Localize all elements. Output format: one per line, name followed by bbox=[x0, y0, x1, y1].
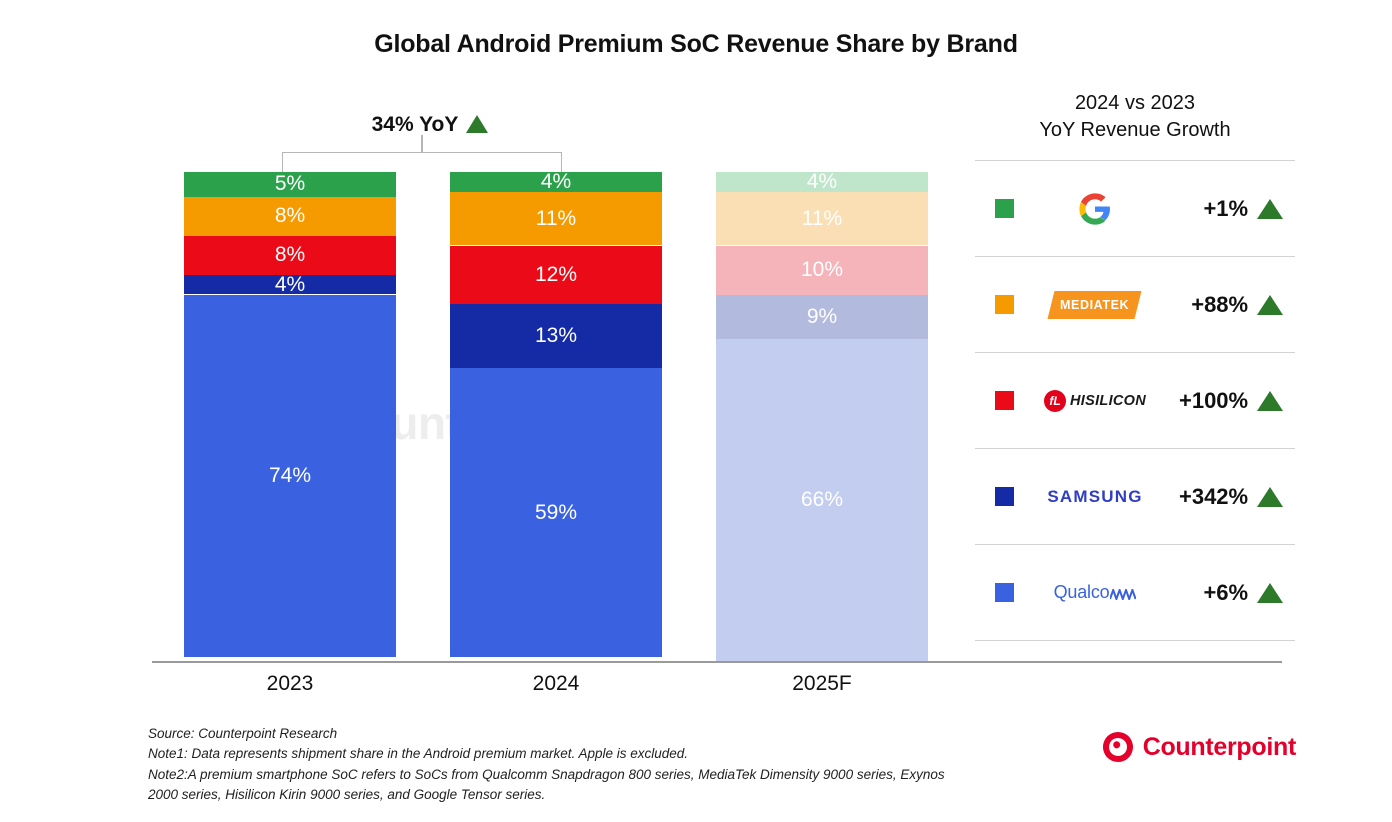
bar-segment-value: 11% bbox=[802, 207, 842, 231]
legend-row-samsung: SAMSUNG+342% bbox=[975, 449, 1295, 545]
x-axis-label-0: 2023 bbox=[184, 672, 396, 696]
yoy-annotation-label: 34% YoY bbox=[372, 113, 459, 136]
chart-plot-area: 34% YoY Counterpoint 5%8%8%4%74% 4%11%12… bbox=[0, 0, 960, 822]
bar-segment-value: 4% bbox=[275, 273, 305, 297]
bar-segment-qualcomm-2024: 59% bbox=[450, 368, 662, 657]
up-triangle-icon bbox=[1257, 487, 1283, 507]
bar-segment-hisilicon-2025f: 10% bbox=[716, 246, 928, 295]
bar-segment-value: 11% bbox=[536, 207, 576, 231]
legend-title: 2024 vs 2023 YoY Revenue Growth bbox=[975, 90, 1295, 144]
up-triangle-icon bbox=[466, 115, 488, 133]
bar-segment-samsung-2024: 13% bbox=[450, 304, 662, 368]
qualcomm-logo-icon: Qualco bbox=[1054, 582, 1137, 603]
bar-segment-value: 66% bbox=[801, 488, 843, 512]
bar-segment-mediatek-2024: 11% bbox=[450, 192, 662, 246]
legend-arrow-cell bbox=[1248, 487, 1291, 507]
bar-segment-mediatek-2023: 8% bbox=[184, 197, 396, 236]
up-triangle-icon bbox=[1257, 583, 1283, 603]
google-logo-icon bbox=[1078, 192, 1112, 226]
legend-swatch-cell bbox=[979, 583, 1030, 602]
qualcomm-logo-text: Qualco bbox=[1054, 582, 1110, 603]
legend-arrow-cell bbox=[1248, 583, 1291, 603]
counterpoint-logo-icon bbox=[1098, 728, 1136, 766]
legend-row-mediatek: MEDIATEK+88% bbox=[975, 257, 1295, 353]
counterpoint-brand-name: Counterpoint bbox=[1143, 733, 1296, 762]
legend-logo-cell: Qualco bbox=[1030, 582, 1161, 603]
bar-segment-value: 10% bbox=[801, 258, 843, 282]
legend-logo-cell: SAMSUNG bbox=[1030, 487, 1161, 507]
mediatek-logo-text: MEDIATEK bbox=[1060, 298, 1129, 312]
bar-segment-value: 5% bbox=[275, 172, 305, 196]
bar-segment-hisilicon-2023: 8% bbox=[184, 236, 396, 275]
legend-color-swatch bbox=[995, 295, 1014, 314]
mediatek-logo-icon: MEDIATEK bbox=[1048, 291, 1142, 319]
bar-segment-google-2023: 5% bbox=[184, 172, 396, 197]
hisilicon-logo-text: HISILICON bbox=[1070, 393, 1146, 409]
note-1: Note1: Data represents shipment share in… bbox=[148, 744, 948, 764]
bar-segment-qualcomm-2023: 74% bbox=[184, 295, 396, 658]
bar-column-2025f: 4%11%10%9%66% bbox=[716, 172, 928, 662]
legend-row-qualcomm: Qualco+6% bbox=[975, 545, 1295, 641]
bar-segment-value: 12% bbox=[535, 263, 577, 287]
yoy-annotation: 34% YoY bbox=[280, 113, 580, 137]
legend-growth-value: +6% bbox=[1160, 580, 1248, 606]
hisilicon-mark-icon: fL bbox=[1044, 390, 1066, 412]
legend-logo-cell: fLHISILICON bbox=[1030, 390, 1161, 412]
hisilicon-logo-icon: fLHISILICON bbox=[1044, 390, 1146, 412]
legend-row-google: +1% bbox=[975, 161, 1295, 257]
source-note: Source: Counterpoint Research bbox=[148, 724, 948, 744]
bar-segment-value: 8% bbox=[275, 204, 305, 228]
bar-segment-value: 4% bbox=[807, 170, 837, 194]
legend-growth-value: +342% bbox=[1160, 484, 1248, 510]
bar-segment-samsung-2025f: 9% bbox=[716, 295, 928, 339]
legend-growth-value: +100% bbox=[1160, 388, 1248, 414]
yoy-bracket bbox=[282, 152, 562, 174]
up-triangle-icon bbox=[1257, 199, 1283, 219]
legend-panel: 2024 vs 2023 YoY Revenue Growth +1%MEDIA… bbox=[975, 90, 1295, 641]
bar-segment-value: 4% bbox=[541, 170, 571, 194]
legend-color-swatch bbox=[995, 583, 1014, 602]
bar-segment-value: 9% bbox=[807, 305, 837, 329]
legend-arrow-cell bbox=[1248, 391, 1291, 411]
bar-segment-value: 13% bbox=[535, 324, 577, 348]
legend-growth-value: +1% bbox=[1160, 196, 1248, 222]
legend-growth-value: +88% bbox=[1160, 292, 1248, 318]
up-triangle-icon bbox=[1257, 391, 1283, 411]
bar-segment-google-2025f: 4% bbox=[716, 172, 928, 192]
note-2: Note2:A premium smartphone SoC refers to… bbox=[148, 765, 948, 806]
counterpoint-brand-logo: Counterpoint bbox=[1103, 732, 1296, 762]
legend-arrow-cell bbox=[1248, 295, 1291, 315]
x-axis-label-1: 2024 bbox=[450, 672, 662, 696]
legend-title-line1: 2024 vs 2023 bbox=[975, 90, 1295, 117]
bar-segment-value: 59% bbox=[535, 501, 577, 525]
legend-arrow-cell bbox=[1248, 199, 1291, 219]
legend-color-swatch bbox=[995, 199, 1014, 218]
legend-swatch-cell bbox=[979, 295, 1030, 314]
legend-color-swatch bbox=[995, 487, 1014, 506]
up-triangle-icon bbox=[1257, 295, 1283, 315]
legend-swatch-cell bbox=[979, 391, 1030, 410]
legend-row-hisilicon: fLHISILICON+100% bbox=[975, 353, 1295, 449]
bar-segment-value: 74% bbox=[269, 464, 311, 488]
legend-title-line2: YoY Revenue Growth bbox=[975, 117, 1295, 144]
stacked-bars: 5%8%8%4%74% 4%11%12%13%59% 4%11%10%9%66% bbox=[0, 172, 960, 662]
legend-logo-cell bbox=[1030, 192, 1161, 226]
bar-column-2023: 5%8%8%4%74% bbox=[184, 172, 396, 662]
legend-logo-cell: MEDIATEK bbox=[1030, 291, 1161, 319]
legend-color-swatch bbox=[995, 391, 1014, 410]
legend-rows: +1%MEDIATEK+88%fLHISILICON+100%SAMSUNG+3… bbox=[975, 160, 1295, 641]
x-axis-label-2: 2025F bbox=[716, 672, 928, 696]
bar-segment-mediatek-2025f: 11% bbox=[716, 192, 928, 246]
legend-swatch-cell bbox=[979, 487, 1030, 506]
bar-segment-hisilicon-2024: 12% bbox=[450, 246, 662, 305]
bar-segment-value: 8% bbox=[275, 243, 305, 267]
bar-segment-qualcomm-2025f: 66% bbox=[716, 339, 928, 662]
x-axis-line bbox=[152, 661, 1282, 663]
footnotes: Source: Counterpoint Research Note1: Dat… bbox=[148, 724, 948, 805]
qualcomm-zigzag-icon bbox=[1110, 589, 1136, 600]
bar-segment-samsung-2023: 4% bbox=[184, 275, 396, 295]
samsung-logo-icon: SAMSUNG bbox=[1047, 487, 1142, 507]
legend-swatch-cell bbox=[979, 199, 1030, 218]
yoy-bracket-stem bbox=[421, 135, 423, 153]
bar-column-2024: 4%11%12%13%59% bbox=[450, 172, 662, 662]
bar-segment-google-2024: 4% bbox=[450, 172, 662, 192]
